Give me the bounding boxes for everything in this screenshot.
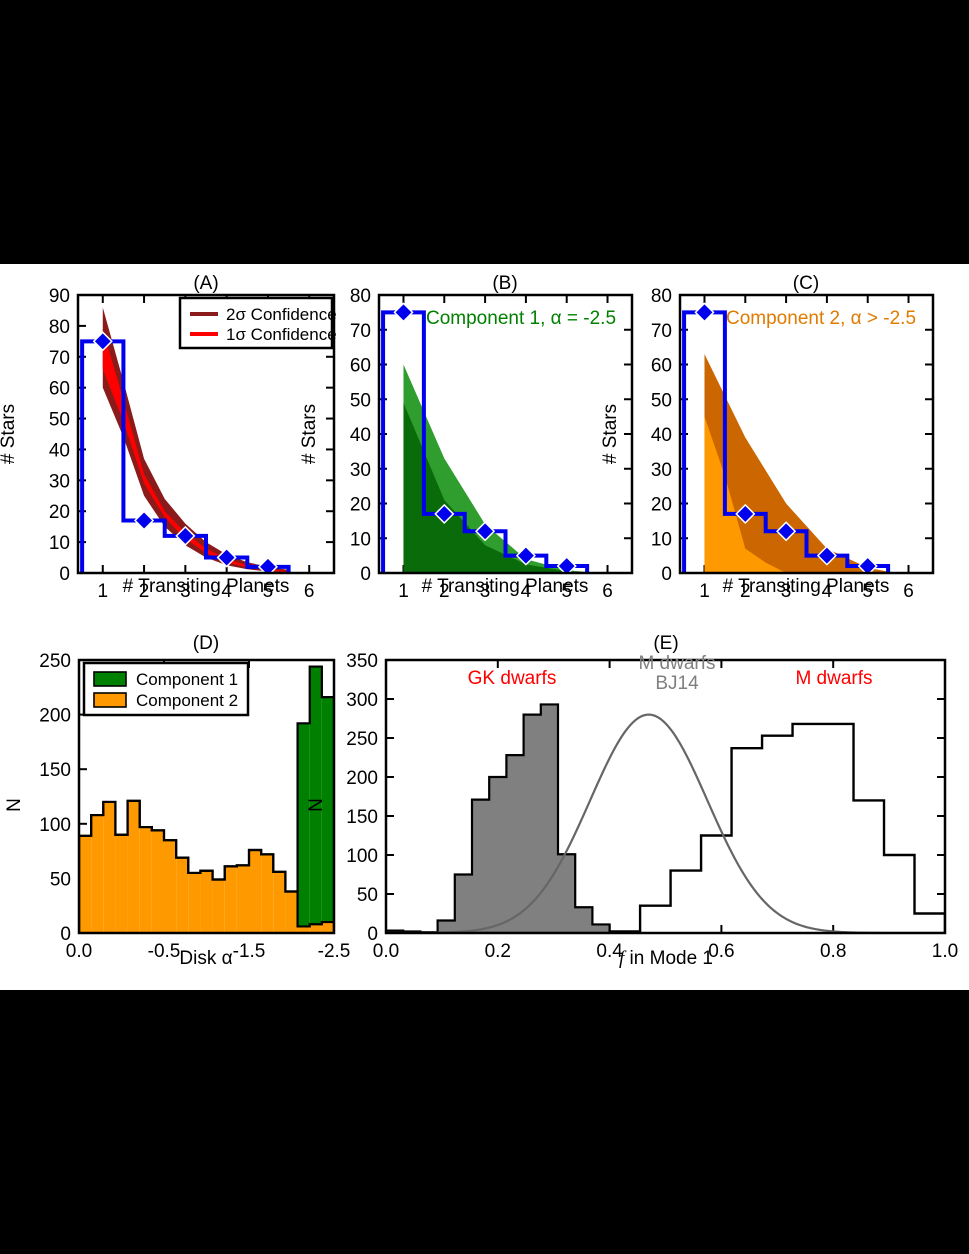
x-tick-label: -0.5 [148, 941, 181, 962]
panel-B-annotation: Component 1, α = -2.5 [426, 308, 616, 329]
x-tick-label: 4 [822, 581, 833, 602]
y-tick-label: 20 [651, 495, 672, 516]
x-tick-label: 5 [561, 581, 572, 602]
y-tick-label: 80 [49, 317, 70, 338]
y-tick-label: 30 [49, 471, 70, 492]
x-tick-label: 1.0 [932, 941, 958, 962]
y-tick-label: 10 [49, 533, 70, 554]
y-tick-label: 200 [346, 768, 378, 789]
panel-B-title: (B) [492, 273, 517, 294]
observed-marker [135, 511, 153, 529]
histogram-m-dwarfs [610, 724, 945, 933]
panel-E-annot-m-dwarfs: M dwarfs [795, 668, 872, 689]
bar-component-2 [273, 872, 285, 933]
bar-component-1 [310, 667, 322, 925]
bar-component-2 [176, 858, 188, 933]
y-tick-label: 40 [651, 425, 672, 446]
y-tick-label: 40 [49, 440, 70, 461]
y-tick-label: 250 [346, 729, 378, 750]
panel-E-title: (E) [653, 633, 678, 654]
panel-B-ylabel: # Stars [299, 404, 320, 464]
legend-label-1sigma: 1σ Confidence [226, 325, 337, 344]
y-tick-label: 0 [59, 564, 70, 585]
panel-A: (A) # Stars # Transiting Planets 1234560… [0, 273, 337, 602]
bar-component-2 [79, 836, 91, 933]
x-tick-label: 0.8 [820, 941, 846, 962]
bar-component-2 [115, 835, 127, 933]
bar-component-2 [322, 922, 334, 933]
legend-label-2sigma: 2σ Confidence [226, 305, 337, 324]
y-tick-label: 10 [350, 529, 371, 550]
y-tick-label: 20 [350, 495, 371, 516]
bar-component-2 [213, 879, 225, 933]
y-tick-label: 70 [49, 348, 70, 369]
x-tick-label: 0.6 [708, 941, 734, 962]
x-tick-label: 0.2 [485, 941, 511, 962]
y-tick-label: 60 [651, 356, 672, 377]
svg-text:f in Mode 1: f in Mode 1 [619, 948, 713, 969]
x-tick-label: 6 [304, 581, 315, 602]
panel-E-xlabel: f in Mode 1 [619, 948, 713, 969]
y-tick-label: 20 [49, 502, 70, 523]
panel-D-ylabel: N [4, 798, 25, 812]
observed-marker [695, 303, 713, 321]
legend-label-component-2: Component 2 [136, 691, 238, 710]
y-tick-label: 100 [39, 815, 71, 836]
x-tick-label: 1 [398, 581, 409, 602]
y-tick-label: 30 [651, 460, 672, 481]
x-tick-label: 4 [221, 581, 232, 602]
y-tick-label: 10 [651, 529, 672, 550]
panel-C-title: (C) [793, 273, 819, 294]
panel-D-title: (D) [193, 633, 219, 654]
x-tick-label: 6 [903, 581, 914, 602]
bar-component-1 [298, 723, 310, 926]
legend-swatch-component-1 [94, 672, 126, 686]
y-tick-label: 50 [50, 869, 71, 890]
bar-component-2 [285, 892, 297, 933]
x-tick-label: 3 [180, 581, 191, 602]
x-tick-label: 5 [263, 581, 274, 602]
legend-swatch-component-2 [94, 693, 126, 707]
panel-C-annotation: Component 2, α > -2.5 [726, 308, 916, 329]
bar-component-2 [91, 815, 103, 933]
bar-component-2 [261, 854, 273, 933]
bar-component-2 [103, 802, 115, 933]
y-tick-label: 80 [350, 286, 371, 307]
x-tick-label: 2 [439, 581, 450, 602]
bar-component-2 [164, 840, 176, 933]
bar-component-2 [152, 830, 164, 933]
panel-D-xlabel: Disk α [179, 948, 232, 969]
panel-E: (E) N f in Mode 1 0.00.20.40.60.81.00501… [306, 633, 958, 969]
y-tick-label: 150 [39, 760, 71, 781]
y-tick-label: 200 [39, 706, 71, 727]
panel-C-ylabel: # Stars [600, 404, 621, 464]
y-tick-label: 60 [350, 356, 371, 377]
x-tick-label: 3 [781, 581, 792, 602]
x-tick-label: 1 [97, 581, 108, 602]
panel-E-ylabel: N [306, 798, 327, 812]
panel-D-legend: Component 1 Component 2 [84, 663, 248, 715]
x-tick-label: 2 [139, 581, 150, 602]
figure-canvas: (A) # Stars # Transiting Planets 1234560… [0, 264, 969, 990]
y-tick-label: 40 [350, 425, 371, 446]
y-tick-label: 50 [651, 390, 672, 411]
x-tick-label: 3 [480, 581, 491, 602]
y-tick-label: 0 [661, 564, 672, 585]
legend-label-component-1: Component 1 [136, 670, 238, 689]
y-tick-label: 50 [357, 885, 378, 906]
bar-component-2 [237, 865, 249, 933]
x-tick-label: 2 [740, 581, 751, 602]
y-tick-label: 90 [49, 286, 70, 307]
y-tick-label: 150 [346, 807, 378, 828]
x-tick-label: 5 [862, 581, 873, 602]
panel-C: (C) # Stars # Transiting Planets 1234560… [600, 273, 933, 602]
panel-D: (D) N Disk α 0.0-0.5-1.5-2.5050100150200… [4, 633, 350, 969]
panel-A-ylabel: # Stars [0, 404, 19, 464]
panel-A-title: (A) [193, 273, 218, 294]
y-tick-label: 70 [350, 321, 371, 342]
y-tick-label: 0 [360, 564, 371, 585]
y-tick-label: 350 [346, 651, 378, 672]
y-tick-label: 100 [346, 846, 378, 867]
y-tick-label: 300 [346, 690, 378, 711]
panel-E-annot-m-dwarfs-bj14-line1: M dwarfs [638, 653, 715, 674]
x-tick-label: -2.5 [318, 941, 351, 962]
bar-component-2 [249, 850, 261, 933]
x-tick-label: 0.4 [596, 941, 623, 962]
y-tick-label: 30 [350, 460, 371, 481]
observed-marker [394, 303, 412, 321]
y-tick-label: 250 [39, 651, 71, 672]
bar-component-2 [200, 871, 212, 933]
bar-component-2 [310, 924, 322, 933]
panel-A-legend: 2σ Confidence 1σ Confidence [180, 298, 337, 348]
y-tick-label: 0 [367, 924, 378, 945]
bar-component-2 [140, 827, 152, 933]
y-tick-label: 80 [651, 286, 672, 307]
bar-component-2 [188, 873, 200, 933]
y-tick-label: 50 [49, 410, 70, 431]
x-tick-label: 6 [602, 581, 613, 602]
y-tick-label: 0 [60, 924, 71, 945]
panel-B: (B) # Stars # Transiting Planets 1234560… [299, 273, 632, 602]
figure-svg: (A) # Stars # Transiting Planets 1234560… [0, 264, 969, 990]
y-tick-label: 60 [49, 379, 70, 400]
bar-component-2 [225, 866, 237, 933]
panel-E-annot-m-dwarfs-bj14-line2: BJ14 [655, 673, 699, 694]
bar-component-2 [128, 801, 140, 933]
x-tick-label: -1.5 [233, 941, 266, 962]
x-tick-label: 4 [521, 581, 532, 602]
y-tick-label: 50 [350, 390, 371, 411]
y-tick-label: 70 [651, 321, 672, 342]
panel-E-annot-gk-dwarfs: GK dwarfs [468, 668, 557, 689]
x-tick-label: 1 [699, 581, 710, 602]
histogram-gk-dwarfs [386, 704, 610, 933]
